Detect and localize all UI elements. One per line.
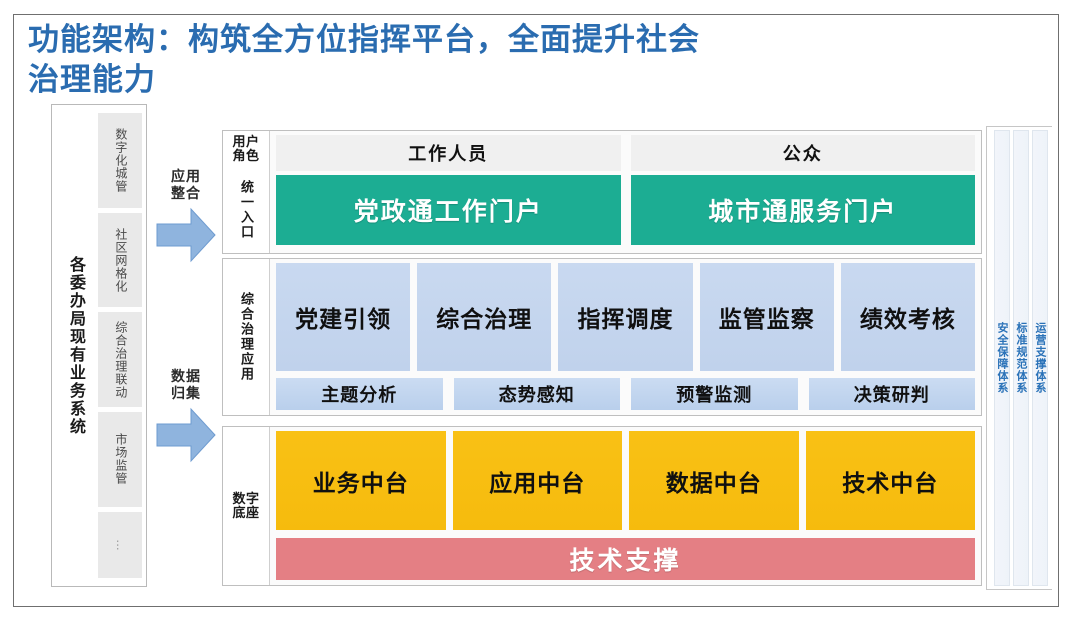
data-aggregation-arrow-group: 数据 归集 [153,368,219,466]
list-item[interactable]: 市场监管 [98,412,142,507]
app-supervision-inspection[interactable]: 监管监察 [700,263,834,371]
user-role-staff[interactable]: 工作人员 [276,135,621,171]
band-label-unified-entry: 统一入口 [223,167,269,253]
list-item[interactable]: 数字化城管 [98,113,142,208]
right-arrow-icon [155,404,217,466]
analytics-row: 主题分析 态势感知 预警监测 决策研判 [276,378,975,410]
apps-band-labels: 综合治理应用 [223,259,270,415]
band-label-governance-apps: 综合治理应用 [223,259,269,415]
arrow-label: 应用 整合 [153,168,219,202]
app-party-building[interactable]: 党建引领 [276,263,410,371]
entry-band-labels: 用户 角色 统一入口 [223,131,270,253]
portal-dangzhengtong[interactable]: 党政通工作门户 [276,175,621,245]
band-label-digital-base: 数字 底座 [223,427,269,585]
portals-row: 党政通工作门户 城市通服务门户 [276,175,975,248]
legacy-systems-list: 数字化城管 社区网格化 综合治理联动 市场监管 … [98,105,146,586]
portal-chengshitong[interactable]: 城市通服务门户 [631,175,976,245]
band-label-user-role: 用户 角色 [223,131,269,167]
analytics-decision-judgement[interactable]: 决策研判 [809,378,976,410]
platform-data[interactable]: 数据中台 [629,431,799,530]
governance-applications-band: 综合治理应用 党建引领 综合治理 指挥调度 监管监察 绩效考核 主题分析 态势感… [222,258,982,416]
user-roles-row: 工作人员 公众 [276,135,975,171]
analytics-early-warning[interactable]: 预警监测 [631,378,798,410]
app-command-dispatch[interactable]: 指挥调度 [558,263,692,371]
base-band-body: 业务中台 应用中台 数据中台 技术中台 技术支撑 [270,427,981,585]
legacy-systems-title: 各委办局现有业务系统 [52,105,98,586]
application-integration-arrow-group: 应用 整合 [153,168,219,266]
architecture-diagram: 各委办局现有业务系统 数字化城管 社区网格化 综合治理联动 市场监管 … 应用 … [0,0,1046,593]
app-performance-assessment[interactable]: 绩效考核 [841,263,975,371]
entry-band-body: 工作人员 公众 党政通工作门户 城市通服务门户 [270,131,981,253]
platform-business[interactable]: 业务中台 [276,431,446,530]
analytics-situation-awareness[interactable]: 态势感知 [454,378,621,410]
user-role-public[interactable]: 公众 [631,135,976,171]
analytics-topic-analysis[interactable]: 主题分析 [276,378,443,410]
list-item[interactable]: 综合治理联动 [98,312,142,407]
right-support-systems: 运营支撑体系 标准规范体系 安全保障体系 [990,130,1048,586]
app-comprehensive-governance[interactable]: 综合治理 [417,263,551,371]
legacy-systems-panel: 各委办局现有业务系统 数字化城管 社区网格化 综合治理联动 市场监管 … [51,104,147,587]
base-band-labels: 数字 底座 [223,427,270,585]
system-operation-support[interactable]: 运营支撑体系 [1032,130,1048,586]
system-standards-norms[interactable]: 标准规范体系 [1013,130,1029,586]
apps-band-body: 党建引领 综合治理 指挥调度 监管监察 绩效考核 主题分析 态势感知 预警监测 … [270,259,981,415]
arrow-label: 数据 归集 [153,368,219,402]
system-security-assurance[interactable]: 安全保障体系 [994,130,1010,586]
list-item[interactable]: 社区网格化 [98,213,142,308]
right-arrow-icon [155,204,217,266]
list-item-more[interactable]: … [98,512,142,578]
governance-apps-row: 党建引领 综合治理 指挥调度 监管监察 绩效考核 [276,263,975,371]
platform-application[interactable]: 应用中台 [453,431,623,530]
platform-technology[interactable]: 技术中台 [806,431,976,530]
technical-support-bar[interactable]: 技术支撑 [276,538,975,580]
unified-entry-band: 用户 角色 统一入口 工作人员 公众 党政通工作门户 城市通服务门户 [222,130,982,254]
middle-platforms-row: 业务中台 应用中台 数据中台 技术中台 [276,431,975,530]
digital-base-band: 数字 底座 业务中台 应用中台 数据中台 技术中台 技术支撑 [222,426,982,586]
